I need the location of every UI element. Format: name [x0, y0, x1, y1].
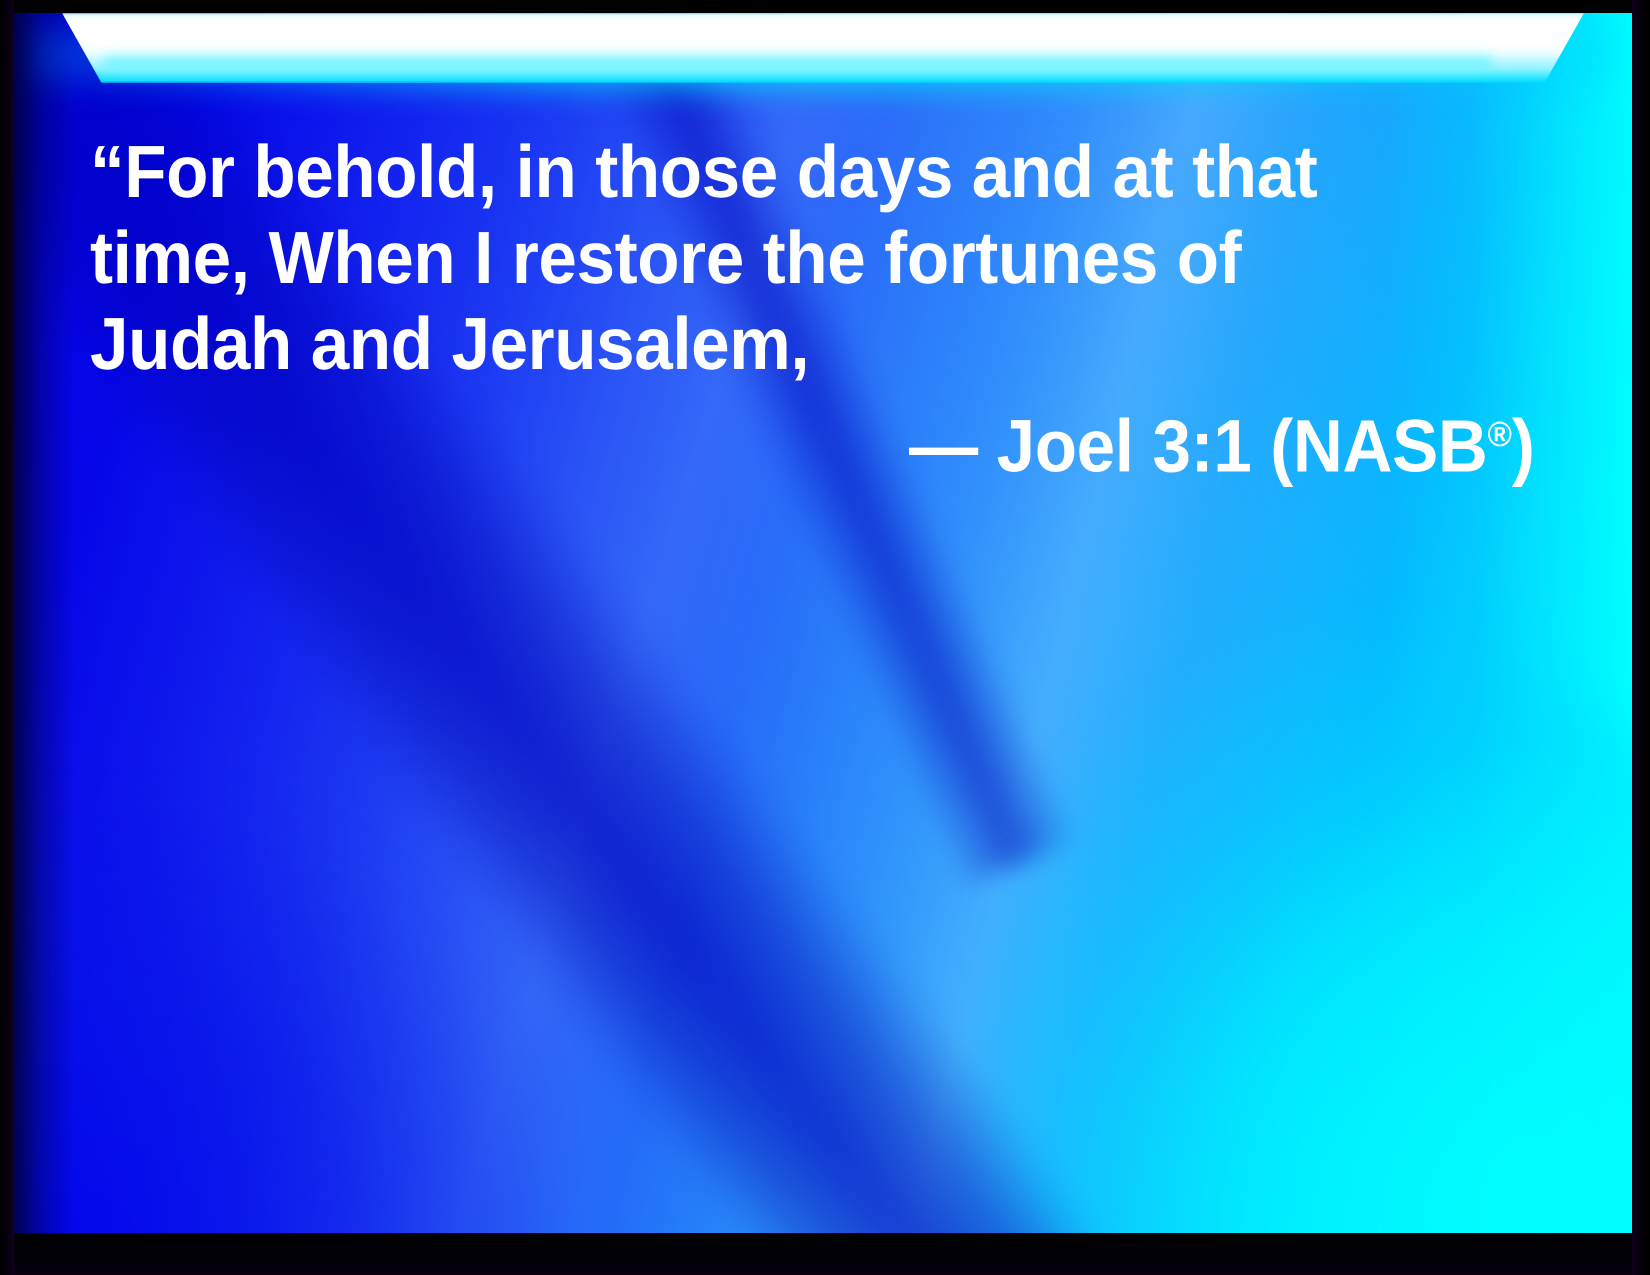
verse-slide: “For behold, in those days and at that t…: [0, 0, 1650, 1275]
banner-shape: [62, 13, 1584, 83]
verse-attribution: — Joel 3:1 (NASB®): [909, 391, 1535, 490]
background-left-edge-shadow: [14, 13, 74, 1233]
verse-text: “For behold, in those days and at that t…: [90, 129, 1418, 387]
frame-border-top: [0, 0, 1650, 13]
registered-trademark-icon: ®: [1487, 414, 1511, 454]
attribution-em-dash: —: [909, 405, 978, 488]
top-glow-banner: [14, 13, 1632, 93]
attribution-closing-paren: ): [1512, 405, 1535, 488]
background-bottom-left-shadow: [14, 803, 544, 1233]
attribution-reference: Joel 3:1 (NASB: [997, 405, 1488, 488]
frame-border-right: [1632, 0, 1650, 1275]
slide-background: “For behold, in those days and at that t…: [14, 13, 1632, 1233]
frame-border-bottom: [0, 1233, 1650, 1275]
banner-cyan-core: [104, 51, 1492, 71]
frame-border-left: [0, 0, 14, 1275]
